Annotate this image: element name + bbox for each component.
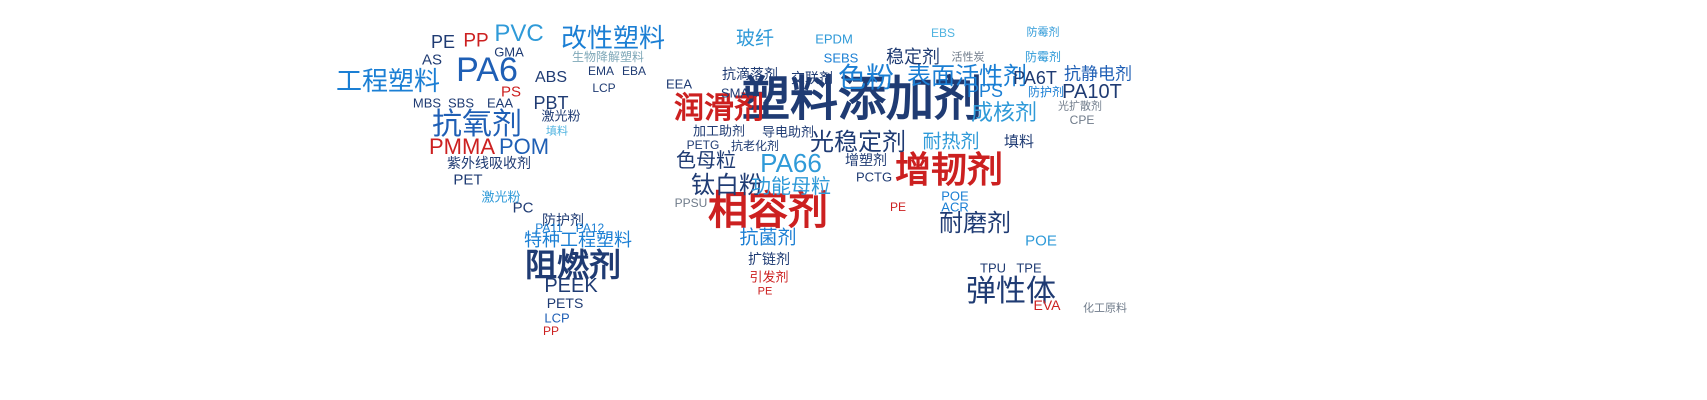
word-cloud-term[interactable]: 填料 <box>546 127 568 138</box>
word-cloud-term[interactable]: 色粉 <box>838 64 894 92</box>
word-cloud-term[interactable]: 抗滴落剂 <box>722 67 778 81</box>
word-cloud-term[interactable]: EVA <box>1034 298 1061 312</box>
word-cloud-term[interactable]: 生物降解塑料 <box>572 51 644 63</box>
word-cloud-term[interactable]: EEA <box>666 78 692 91</box>
word-cloud-term[interactable]: EPDM <box>815 33 853 46</box>
word-cloud-term[interactable]: GMA <box>494 46 524 59</box>
word-cloud-term[interactable]: PPSU <box>675 197 708 209</box>
word-cloud-term[interactable]: PEEK <box>544 276 597 296</box>
word-cloud-term[interactable]: AS <box>422 53 442 68</box>
word-cloud-term[interactable]: 导电助剂 <box>762 126 814 139</box>
word-cloud-term[interactable]: PE <box>758 287 773 298</box>
word-cloud-term[interactable]: 成核剂 <box>971 102 1037 124</box>
word-cloud-term[interactable]: 扩链剂 <box>748 252 790 266</box>
word-cloud-term[interactable]: 交联剂 <box>791 71 833 85</box>
word-cloud-term[interactable]: 耐热剂 <box>922 133 979 152</box>
word-cloud-term[interactable]: EBA <box>622 65 646 77</box>
word-cloud-term[interactable]: 化工原料 <box>1083 304 1127 315</box>
word-cloud-term[interactable]: SMA <box>721 87 749 100</box>
word-cloud-term[interactable]: PC <box>513 201 534 216</box>
word-cloud-term[interactable]: PA12 <box>576 222 604 234</box>
word-cloud-term[interactable]: PVC <box>494 22 543 46</box>
word-cloud-term[interactable]: 稳定剂 <box>886 48 940 66</box>
word-cloud-term[interactable]: 增韧剂 <box>895 152 1003 188</box>
word-cloud-term[interactable]: EAA <box>487 97 513 110</box>
word-cloud-term[interactable]: PCTG <box>856 171 892 184</box>
word-cloud-term[interactable]: PET <box>453 173 482 188</box>
word-cloud-term[interactable]: 工程塑料 <box>336 68 440 94</box>
word-cloud-term[interactable]: 防霉剂 <box>1025 51 1061 63</box>
word-cloud-term[interactable]: PP <box>543 325 559 337</box>
word-cloud-term[interactable]: 改性塑料 <box>561 25 665 51</box>
word-cloud-term[interactable]: POE <box>1025 234 1057 249</box>
word-cloud-term[interactable]: LCP <box>592 82 615 94</box>
word-cloud-term[interactable]: PETS <box>547 296 584 310</box>
word-cloud-term[interactable]: 抗老化剂 <box>731 140 779 152</box>
word-cloud-term[interactable]: 润滑剂 <box>674 94 764 124</box>
word-cloud-term[interactable]: ACR <box>941 201 968 214</box>
word-cloud-term[interactable]: 填料 <box>1004 135 1034 150</box>
word-cloud-term[interactable]: 耐磨剂 <box>939 212 1011 236</box>
word-cloud-term[interactable]: ABS <box>535 70 567 86</box>
word-cloud-term[interactable]: 功能母粒 <box>751 177 831 197</box>
word-cloud-term[interactable]: TPE <box>1016 262 1041 275</box>
word-cloud-term[interactable]: EBS <box>931 27 955 39</box>
word-cloud-term[interactable]: EMA <box>588 65 614 77</box>
word-cloud-term[interactable]: 抗静电剂 <box>1064 66 1132 83</box>
word-cloud-term[interactable]: PA10T <box>1062 82 1122 102</box>
word-cloud-term[interactable]: CPE <box>1070 114 1095 126</box>
word-cloud-term[interactable]: 活性炭 <box>952 53 985 64</box>
word-cloud-term[interactable]: PP <box>463 32 488 51</box>
word-cloud-term[interactable]: 防护剂 <box>1028 86 1064 98</box>
word-cloud-canvas: 塑料添加剂相容剂增韧剂阻燃剂润滑剂PA6抗氧剂工程塑料改性塑料色粉表面活性剂弹性… <box>0 0 1707 400</box>
word-cloud-term[interactable]: 增塑剂 <box>845 153 887 167</box>
word-cloud-term[interactable]: PE <box>890 201 906 213</box>
word-cloud-term[interactable]: 引发剂 <box>749 271 788 284</box>
word-cloud-term[interactable]: LCP <box>544 312 569 325</box>
word-cloud-term[interactable]: TPU <box>980 262 1006 275</box>
word-cloud-term[interactable]: 光扩散剂 <box>1058 102 1102 113</box>
word-cloud-term[interactable]: 色母粒 <box>676 151 736 171</box>
word-cloud-term[interactable]: 激光粉 <box>541 110 580 123</box>
word-cloud-term[interactable]: 防霉剂 <box>1027 28 1060 39</box>
word-cloud-term[interactable]: MBS <box>413 97 441 110</box>
word-cloud-term[interactable]: PPS <box>967 82 1003 100</box>
word-cloud-term[interactable]: 加工助剂 <box>693 125 745 138</box>
word-cloud-term[interactable]: PA11 <box>535 222 563 234</box>
word-cloud-term[interactable]: 抗菌剂 <box>739 229 796 248</box>
word-cloud-term[interactable]: 紫外线吸收剂 <box>447 156 531 170</box>
word-cloud-term[interactable]: SBS <box>448 97 474 110</box>
word-cloud-term[interactable]: SEBS <box>824 52 859 65</box>
word-cloud-term[interactable]: PETG <box>687 139 720 151</box>
word-cloud-term[interactable]: 玻纤 <box>736 30 774 49</box>
word-cloud-term[interactable]: PE <box>431 33 455 51</box>
word-cloud-term[interactable]: PA66 <box>760 150 822 176</box>
